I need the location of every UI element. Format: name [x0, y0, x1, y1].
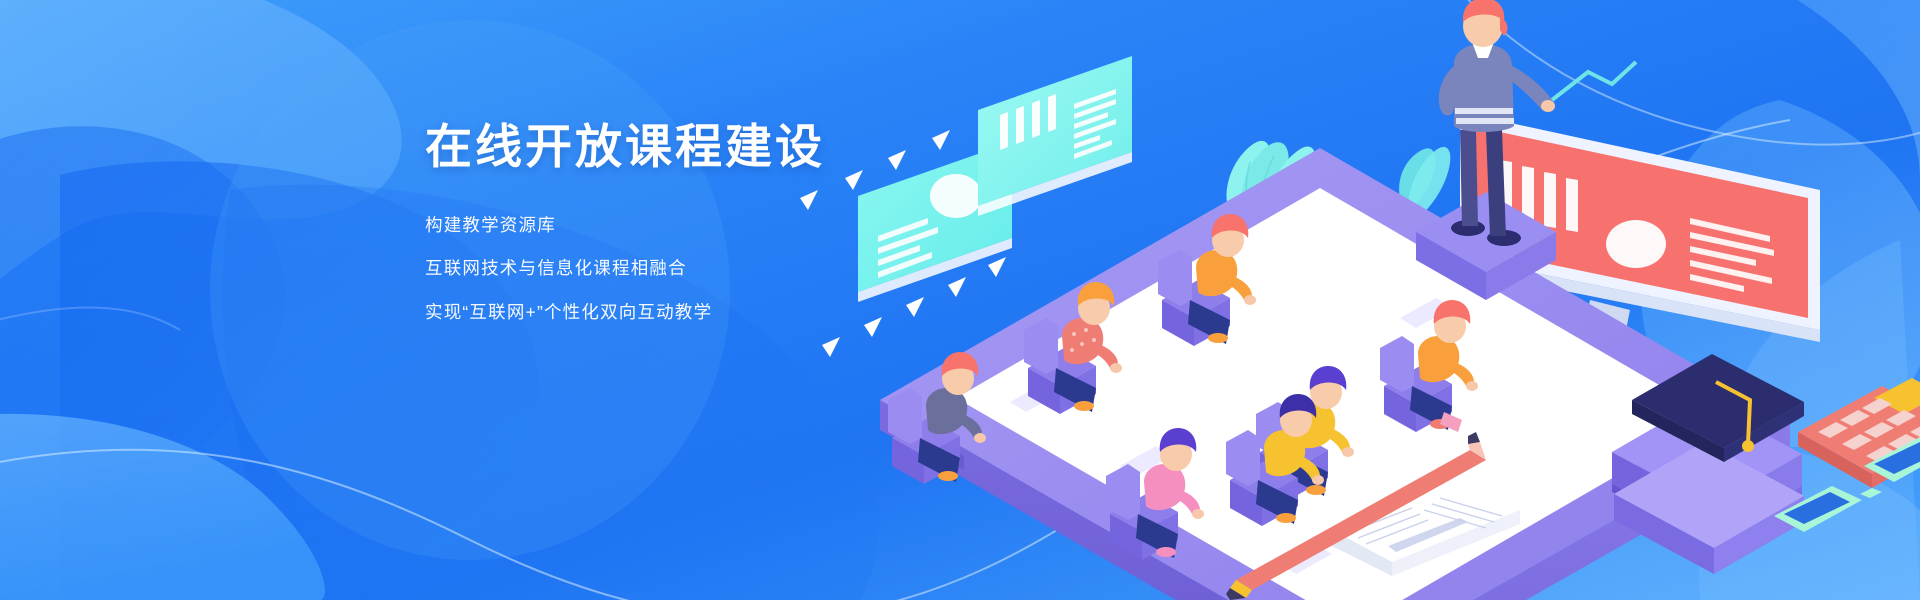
subtitle-line-2: 互联网技术与信息化课程相融合 [425, 260, 1145, 278]
subtitle-line-3: 实现“互联网+”个性化双向互动教学 [425, 304, 1145, 322]
page-title: 在线开放课程建设 [425, 118, 1145, 177]
subtitle-list: 构建教学资源库 互联网技术与信息化课程相融合 实现“互联网+”个性化双向互动教学 [425, 217, 1145, 322]
subtitle-line-1: 构建教学资源库 [425, 217, 1145, 235]
hero-banner: 在线开放课程建设 构建教学资源库 互联网技术与信息化课程相融合 实现“互联网+”… [0, 0, 1920, 600]
hero-text-block: 在线开放课程建设 构建教学资源库 互联网技术与信息化课程相融合 实现“互联网+”… [425, 118, 1145, 321]
